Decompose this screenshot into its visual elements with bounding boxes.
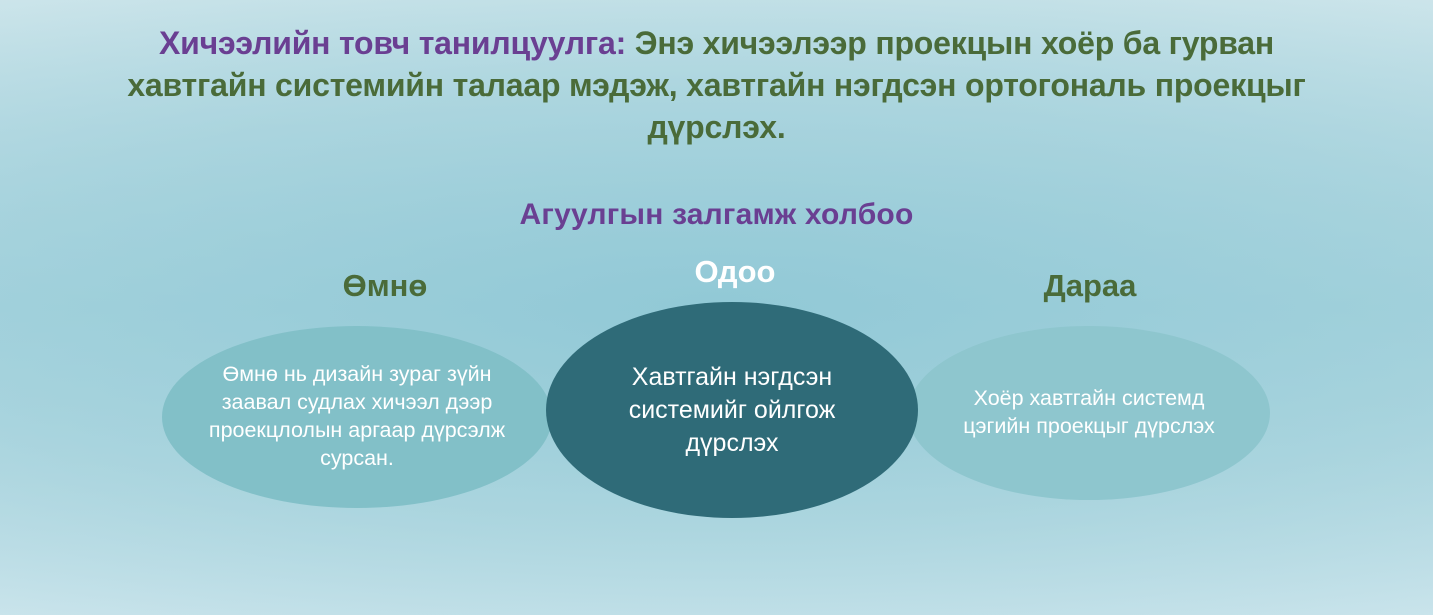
stage-ellipse-next: Хоёр хавтгайн системд цэгийн проекцыг дү… <box>908 326 1270 500</box>
slide-canvas: Хичээлийн товч танилцуулга: Энэ хичээлээ… <box>0 0 1433 615</box>
stage-ellipse-previous: Өмнө нь дизайн зураг зүйн заавал судлах … <box>162 326 552 508</box>
stage-body-next: Хоёр хавтгайн системд цэгийн проекцыг дү… <box>910 385 1268 441</box>
stage-ellipse-current: Хавтгайн нэгдсэн системийг ойлгож дүрслэ… <box>546 302 918 518</box>
slide-subtitle: Агуулгын залгамж холбоо <box>0 198 1433 232</box>
stage-heading-current: Одоо <box>580 254 890 290</box>
stage-body-current: Хавтгайн нэгдсэн системийг ойлгож дүрслэ… <box>548 361 916 460</box>
stage-heading-next: Дараа <box>930 268 1250 304</box>
title-lead-text: Хичээлийн товч танилцуулга: <box>159 25 626 61</box>
slide-title: Хичээлийн товч танилцуулга: Энэ хичээлээ… <box>110 22 1323 149</box>
stage-body-previous: Өмнө нь дизайн зураг зүйн заавал судлах … <box>168 361 546 473</box>
stage-heading-previous: Өмнө <box>235 268 535 304</box>
